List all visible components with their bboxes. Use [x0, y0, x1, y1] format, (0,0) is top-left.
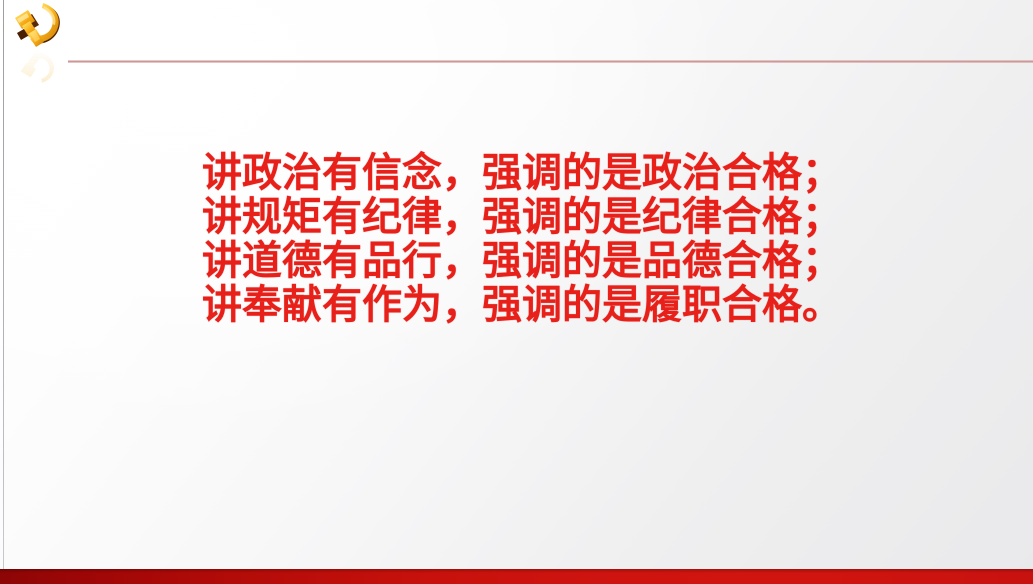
header-divider-rule	[68, 60, 1033, 63]
header-emblem	[6, 0, 72, 86]
slide-canvas: 讲政治有信念，强调的是政治合格； 讲规矩有纪律，强调的是纪律合格； 讲道德有品行…	[0, 0, 1033, 584]
body-line-4: 讲奉献有作为，强调的是履职合格。	[202, 283, 842, 327]
body-line-2: 讲规矩有纪律，强调的是纪律合格；	[202, 195, 842, 239]
left-edge-rule	[3, 0, 4, 571]
body-line-3: 讲道德有品行，强调的是品德合格；	[202, 239, 842, 283]
emblem-reflection	[6, 47, 72, 85]
body-line-1: 讲政治有信念，强调的是政治合格；	[202, 151, 842, 195]
cpc-hammer-sickle-emblem	[6, 0, 72, 50]
slide-body-text: 讲政治有信念，强调的是政治合格； 讲规矩有纪律，强调的是纪律合格； 讲道德有品行…	[202, 151, 842, 327]
bottom-red-band	[0, 569, 1033, 584]
